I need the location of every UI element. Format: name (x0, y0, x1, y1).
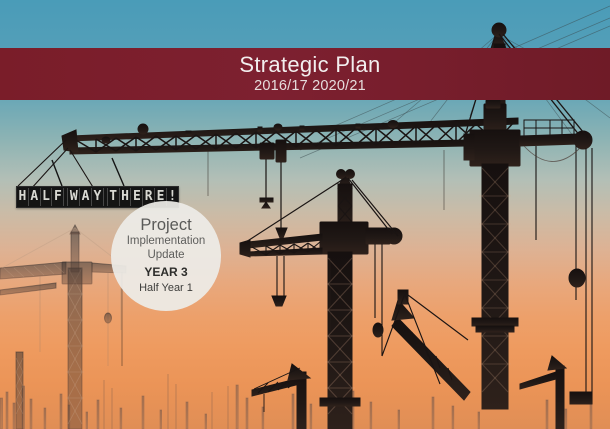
sign-tile: E (131, 188, 143, 206)
sign-tile: H (120, 188, 132, 206)
sign-tile: F (52, 188, 64, 206)
badge-line-project: Project (140, 217, 191, 234)
badge-line-year: YEAR 3 (144, 265, 187, 280)
badge-line-update: Update (147, 249, 184, 263)
sign-tile: T (108, 188, 120, 206)
sign-hanging-wires (0, 0, 610, 429)
sign-tile: Y (92, 188, 104, 206)
badge-line-implementation: Implementation (127, 235, 206, 249)
sign-tile: L (41, 188, 53, 206)
sign-tile: W (68, 188, 80, 206)
sign-tile: A (29, 188, 41, 206)
sign-tile: A (80, 188, 92, 206)
project-update-badge: Project Implementation Update YEAR 3 Hal… (111, 201, 221, 311)
badge-line-half-year: Half Year 1 (139, 281, 193, 295)
cover-page: Strategic Plan 2016/17 2020/21 H A L F W… (0, 0, 610, 429)
sign-tile: H (17, 188, 29, 206)
